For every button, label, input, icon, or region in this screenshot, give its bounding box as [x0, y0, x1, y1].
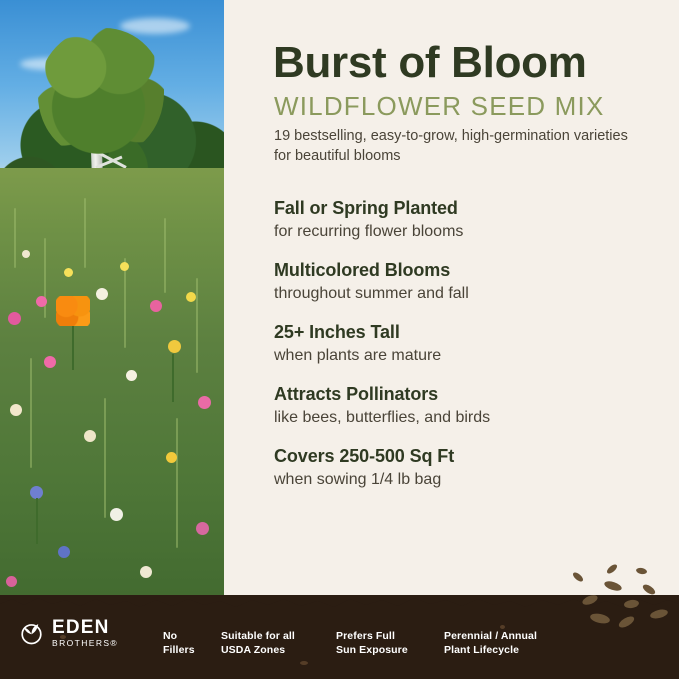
brand-logo[interactable]: EDEN BROTHERS® [18, 618, 118, 648]
seed [589, 612, 610, 625]
feature-subtext: for recurring flower blooms [274, 220, 664, 243]
flower [126, 370, 137, 381]
flower [64, 268, 73, 277]
grass [196, 278, 198, 373]
brand-name: EDEN [52, 618, 118, 637]
footer-item-line1: Perennial / Annual [444, 629, 576, 643]
feature-subtext: throughout summer and fall [274, 282, 664, 305]
product-subtitle: WILDFLOWER SEED MIX [274, 91, 674, 122]
flower [140, 566, 152, 578]
footer-item-line1: Prefers Full [336, 629, 432, 643]
feature-subtext: when plants are mature [274, 344, 664, 367]
seed [617, 614, 636, 629]
product-infographic: Burst of Bloom WILDFLOWER SEED MIX 19 be… [0, 0, 679, 679]
seed [624, 599, 640, 609]
feature-heading: Multicolored Blooms [274, 258, 664, 282]
flower [120, 262, 129, 271]
flower [150, 300, 162, 312]
footer-item-line1: No [163, 629, 215, 643]
grass [124, 258, 126, 348]
footer-item-zones: Suitable for all USDA Zones [221, 629, 321, 657]
flower [84, 430, 96, 442]
stem [172, 354, 174, 402]
footer-item-line2: Plant Lifecycle [444, 643, 576, 657]
footer-item-lifecycle: Perennial / Annual Plant Lifecycle [444, 629, 576, 657]
flower [110, 508, 123, 521]
flower [36, 296, 47, 307]
feature-subtext: like bees, butterflies, and birds [274, 406, 664, 429]
stem [36, 498, 38, 544]
footer-item-line2: Sun Exposure [336, 643, 432, 657]
grass [84, 198, 86, 268]
footer-item-line2: Fillers [163, 643, 215, 657]
page-title: Burst of Bloom [273, 38, 663, 88]
seed [603, 579, 623, 592]
meadow [0, 168, 224, 613]
flower [166, 452, 177, 463]
grass [14, 208, 16, 268]
seed [571, 571, 584, 583]
grass [164, 218, 166, 293]
flower [58, 546, 70, 558]
feature-item: 25+ Inches Tall when plants are mature [274, 320, 664, 367]
soil-speck [300, 661, 308, 665]
feature-item: Attracts Pollinators like bees, butterfl… [274, 382, 664, 429]
flower [8, 312, 21, 325]
feature-item: Multicolored Blooms throughout summer an… [274, 258, 664, 305]
product-description: 19 bestselling, easy-to-grow, high-germi… [274, 126, 644, 166]
flower [168, 340, 181, 353]
feature-heading: 25+ Inches Tall [274, 320, 664, 344]
flower [96, 288, 108, 300]
footer-item-line1: Suitable for all [221, 629, 321, 643]
flower [10, 404, 22, 416]
grass [104, 398, 106, 518]
flower [6, 576, 17, 587]
product-details-panel: Burst of Bloom WILDFLOWER SEED MIX 19 be… [224, 0, 679, 613]
seed [641, 583, 657, 597]
feature-heading: Fall or Spring Planted [274, 196, 664, 220]
brand-subname: BROTHERS® [52, 639, 118, 648]
feature-item: Fall or Spring Planted for recurring flo… [274, 196, 664, 243]
brand-wordmark: EDEN BROTHERS® [52, 618, 118, 648]
seed [636, 567, 648, 575]
orange-poppy [56, 296, 90, 326]
apple-leaf-icon [18, 619, 45, 646]
feature-subtext: when sowing 1/4 lb bag [274, 468, 664, 491]
feature-item: Covers 250-500 Sq Ft when sowing 1/4 lb … [274, 444, 664, 491]
feature-list: Fall or Spring Planted for recurring flo… [274, 196, 664, 506]
wildflower-meadow-photo [0, 0, 224, 613]
footer-item-fillers: No Fillers [163, 629, 215, 657]
feature-heading: Covers 250-500 Sq Ft [274, 444, 664, 468]
flower [196, 522, 209, 535]
seed [605, 563, 618, 575]
seed [649, 608, 668, 620]
seed [581, 593, 599, 606]
grass [176, 418, 178, 548]
grass [30, 358, 32, 468]
tree-canopy [38, 28, 164, 160]
footer-item-line2: USDA Zones [221, 643, 321, 657]
flower [186, 292, 196, 302]
flower [22, 250, 30, 258]
seed-pile [560, 560, 679, 650]
stem [72, 326, 74, 370]
feature-heading: Attracts Pollinators [274, 382, 664, 406]
cloud-icon [120, 18, 190, 34]
flower [198, 396, 211, 409]
footer-item-sun: Prefers Full Sun Exposure [336, 629, 432, 657]
flower [44, 356, 56, 368]
